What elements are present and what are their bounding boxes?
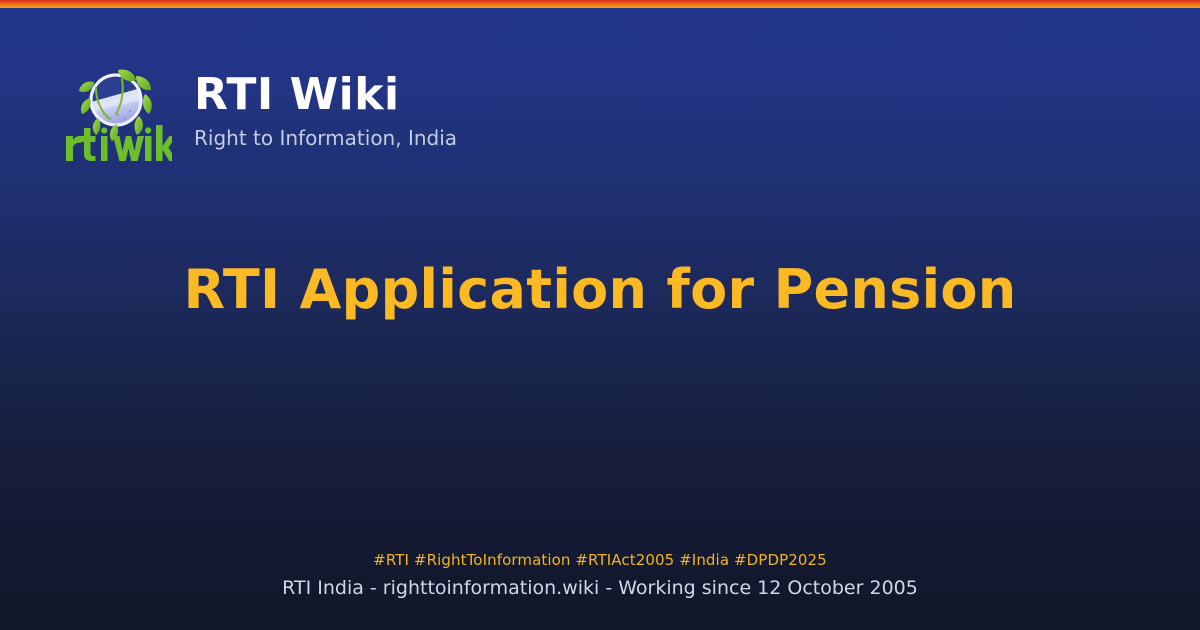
top-accent-bar (0, 0, 1200, 8)
card-footer: #RTI #RightToInformation #RTIAct2005 #In… (0, 550, 1200, 602)
site-tagline: Right to Information, India (194, 126, 457, 150)
brand-text: RTI Wiki Right to Information, India (194, 72, 457, 152)
share-card: RTI Wiki Right to Information, India RTI… (0, 0, 1200, 630)
site-credit-line: RTI India - righttoinformation.wiki - Wo… (0, 575, 1200, 602)
hashtag-line: #RTI #RightToInformation #RTIAct2005 #In… (0, 550, 1200, 572)
site-title: RTI Wiki (194, 72, 457, 119)
page-title: RTI Application for Pension (0, 258, 1200, 321)
rtiwiki-wordmark (66, 125, 172, 161)
rtiwiki-globe-leaf-logo[interactable] (60, 62, 172, 162)
site-header: RTI Wiki Right to Information, India (60, 62, 457, 162)
